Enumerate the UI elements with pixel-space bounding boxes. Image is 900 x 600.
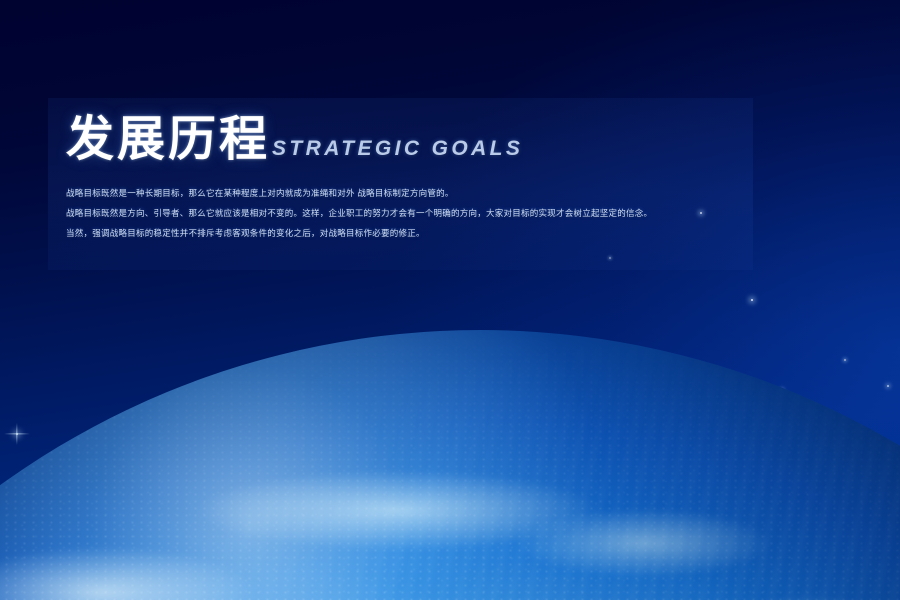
headline-group: 发展历程 STRATEGIC GOALS [66,116,523,164]
space-background [0,0,900,600]
body-paragraph: 当然，强调战略目标的稳定性并不排斥考虑客观条件的变化之后，对战略目标作必要的修正… [66,226,746,240]
page-title: 发展历程 [66,116,270,164]
body-paragraph: 战略目标既然是一种长期目标，那么它在某种程度上对内就成为准绳和对外 战略目标制定… [66,186,746,200]
banner-canvas: 发展历程 STRATEGIC GOALS 战略目标既然是一种长期目标，那么它在某… [0,0,900,600]
body-copy: 战略目标既然是一种长期目标，那么它在某种程度上对内就成为准绳和对外 战略目标制定… [66,186,746,246]
page-subtitle: STRATEGIC GOALS [272,137,523,161]
body-paragraph: 战略目标既然是方向、引导者、那么它就应该是相对不变的。这样，企业职工的努力才会有… [66,206,746,220]
